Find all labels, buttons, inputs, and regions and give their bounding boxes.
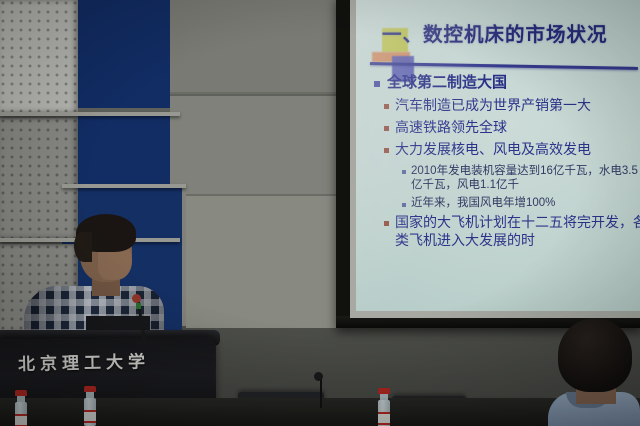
slide-bullet-text: 汽车制造已成为世界产销第一大 bbox=[395, 97, 591, 114]
wall-panel-grey-right bbox=[186, 196, 348, 328]
acoustic-panel-top bbox=[0, 0, 78, 112]
slide-bullet-text: 近年来，我国风电年增100% bbox=[411, 196, 555, 210]
table-microphone-icon bbox=[314, 372, 323, 381]
slide-bullet-level2: 国家的大飞机计划在十二五将完开发，各类飞机进入大发展的时 bbox=[384, 214, 640, 248]
slide-bullet-text: 国家的大飞机计划在十二五将完开发，各类飞机进入大发展的时 bbox=[395, 214, 640, 248]
square-bullet-icon bbox=[384, 104, 389, 109]
slide-bullet-text: 2010年发电装机容量达到16亿千瓦，水电3.5亿千瓦，风电1.1亿千 bbox=[411, 164, 640, 194]
slide-bullet-level2: 大力发展核电、风电及高效发电 bbox=[384, 141, 640, 158]
water-bottle bbox=[15, 390, 27, 426]
square-bullet-icon bbox=[384, 221, 389, 226]
slide-bullet-level2: 高速铁路领先全球 bbox=[384, 119, 640, 136]
podium-institution-label: 北京理工大学 bbox=[18, 346, 208, 375]
table-microphone-stem bbox=[320, 378, 322, 408]
square-bullet-icon bbox=[402, 170, 406, 174]
wall-panel-blue-top bbox=[78, 0, 170, 108]
wall-rail-1 bbox=[0, 112, 180, 116]
slide-bullet-text: 高速铁路领先全球 bbox=[395, 119, 507, 136]
bottle-label bbox=[378, 412, 390, 425]
slide-title: 一、数控机床的市场状况 bbox=[382, 18, 640, 47]
square-bullet-icon bbox=[402, 203, 406, 207]
square-bullet-icon bbox=[374, 81, 380, 87]
slide-bullet-text: 大力发展核电、风电及高效发电 bbox=[395, 141, 591, 158]
audience-member-head bbox=[558, 318, 632, 392]
wall-rail-3 bbox=[62, 184, 186, 188]
slide-body: 全球第二制造大国 汽车制造已成为世界产销第一大 高速铁路领先全球 大力发展核电、… bbox=[374, 74, 640, 254]
slide-bullet-level3: 近年来，我国风电年增100% bbox=[402, 196, 640, 210]
lecture-hall-photo: 一、数控机床的市场状况 全球第二制造大国 汽车制造已成为世界产销第一大 高速铁路… bbox=[0, 0, 640, 426]
wall-panel-grey-upper bbox=[170, 0, 348, 92]
podium-microphone-indicator bbox=[136, 303, 141, 309]
square-bullet-icon bbox=[384, 126, 389, 131]
podium-microphone-icon bbox=[132, 294, 141, 303]
square-bullet-icon bbox=[384, 148, 389, 153]
slide-bullet-level3: 2010年发电装机容量达到16亿千瓦，水电3.5亿千瓦，风电1.1亿千 bbox=[402, 164, 640, 194]
water-bottle bbox=[378, 388, 390, 426]
slide-bullet-level2: 汽车制造已成为世界产销第一大 bbox=[384, 97, 640, 114]
water-bottle bbox=[84, 386, 96, 426]
slide-bullet-text: 全球第二制造大国 bbox=[387, 74, 507, 92]
bottle-label bbox=[15, 414, 27, 426]
slide-bullet-level1: 全球第二制造大国 bbox=[374, 74, 640, 92]
acoustic-panel-middle bbox=[0, 118, 78, 238]
bottle-label bbox=[84, 410, 96, 423]
speaker-hair-side bbox=[74, 232, 92, 262]
projection-screen: 一、数控机床的市场状况 全球第二制造大国 汽车制造已成为世界产销第一大 高速铁路… bbox=[356, 0, 640, 311]
wall-rail-4 bbox=[170, 92, 350, 94]
